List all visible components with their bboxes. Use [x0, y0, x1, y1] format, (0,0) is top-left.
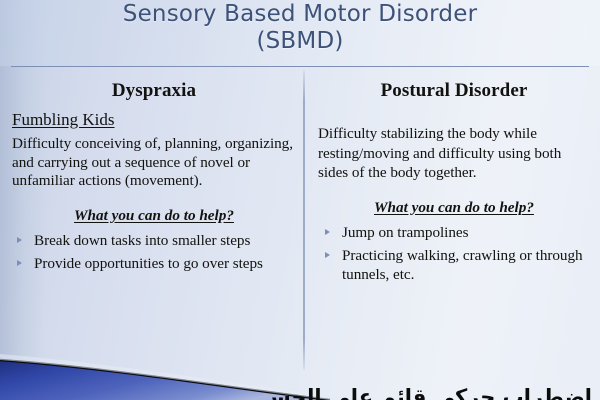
- list-item: Practicing walking, crawling or through …: [314, 246, 594, 284]
- presentation-slide: Sensory Based Motor Disorder (SBMD) Dysp…: [0, 0, 600, 400]
- postural-disorder-description: Difficulty stabilizing the body while re…: [318, 124, 594, 183]
- list-item: Provide opportunities to go over steps: [8, 254, 300, 273]
- arabic-caption: اضطراب حركي قائم على الحس: [262, 385, 592, 400]
- dyspraxia-description: Difficulty conceiving of, planning, orga…: [12, 135, 300, 191]
- column-dyspraxia: Dyspraxia Fumbling Kids Difficulty conce…: [8, 72, 300, 277]
- slide-title-line-1: Sensory Based Motor Disorder: [0, 1, 600, 28]
- slide-title-line-2: (SBMD): [0, 28, 600, 55]
- column-postural-disorder: Postural Disorder Difficulty stabilizing…: [314, 72, 594, 288]
- triangle-bullet-icon: [325, 252, 330, 258]
- column-subheading-fumbling-kids: Fumbling Kids: [12, 110, 300, 130]
- list-item-label: Provide opportunities to go over steps: [34, 255, 263, 272]
- dyspraxia-help-list: Break down tasks into smaller steps Prov…: [8, 231, 300, 273]
- postural-disorder-help-heading: What you can do to help?: [314, 199, 594, 217]
- list-item-label: Break down tasks into smaller steps: [34, 232, 250, 249]
- column-divider: [303, 70, 305, 370]
- column-heading-postural-disorder: Postural Disorder: [314, 80, 594, 102]
- list-item-label: Jump on trampolines: [342, 224, 468, 241]
- title-divider-rule: [11, 66, 589, 67]
- list-item-label: Practicing walking, crawling or through …: [342, 247, 583, 283]
- slide-title: Sensory Based Motor Disorder (SBMD): [0, 1, 600, 55]
- postural-disorder-help-list: Jump on trampolines Practicing walking, …: [314, 223, 594, 284]
- triangle-bullet-icon: [325, 229, 330, 235]
- triangle-bullet-icon: [17, 237, 22, 243]
- list-item: Break down tasks into smaller steps: [8, 231, 300, 250]
- dyspraxia-help-heading: What you can do to help?: [8, 207, 300, 225]
- list-item: Jump on trampolines: [314, 223, 594, 242]
- triangle-bullet-icon: [17, 260, 22, 266]
- column-heading-dyspraxia: Dyspraxia: [8, 80, 300, 102]
